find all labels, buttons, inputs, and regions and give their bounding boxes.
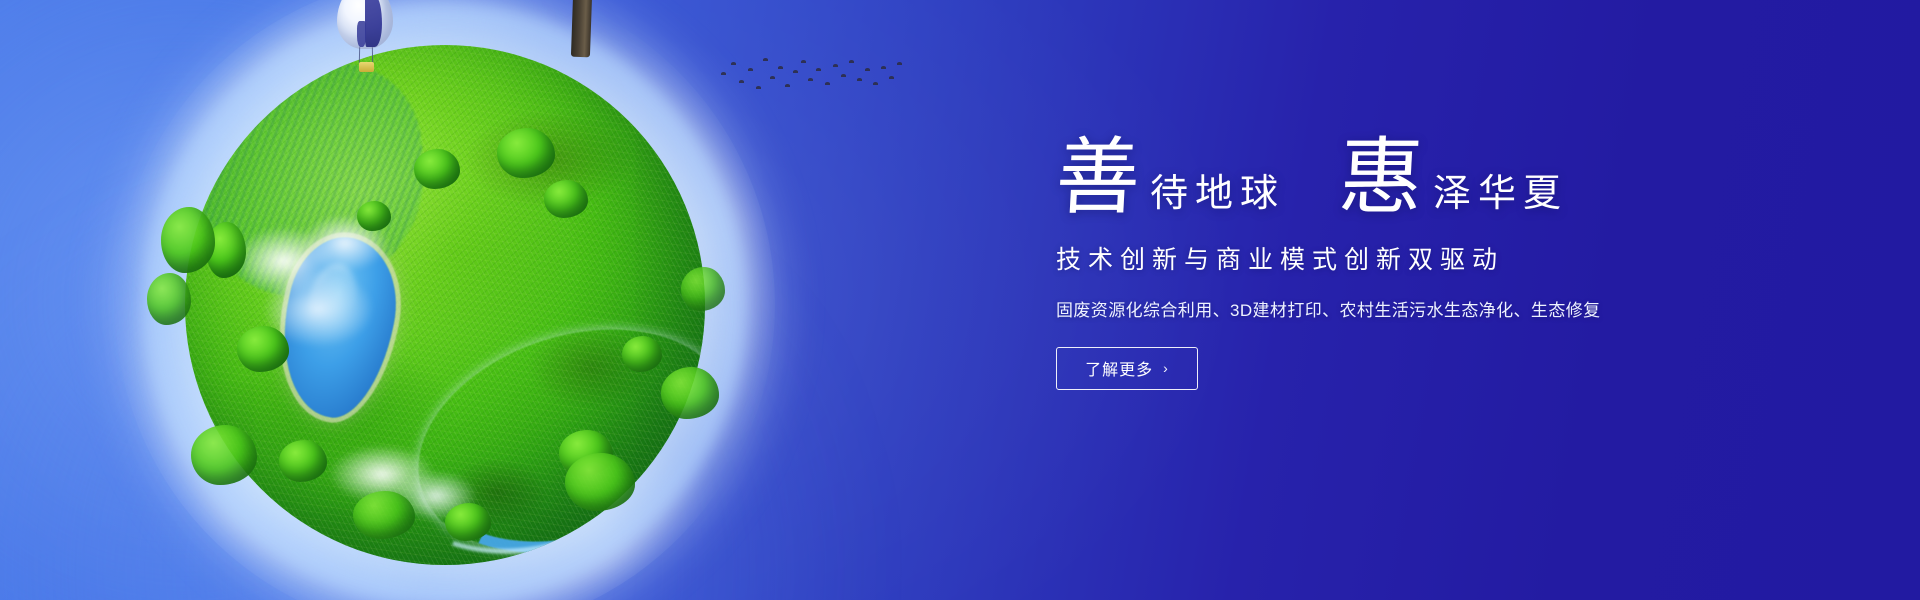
bird-flock-icon [715, 48, 905, 100]
headline-lead-char-2: 惠 [1337, 138, 1425, 218]
hero-banner: 善 待地球 惠 泽华夏 技术创新与商业模式创新双驱动 固废资源化综合利用、3D建… [0, 0, 1920, 600]
tree-canopy-icon [559, 430, 613, 476]
balloon-stripe [365, 0, 382, 47]
atmosphere-halo-icon [95, 0, 795, 600]
rim-tree-icon [147, 273, 191, 325]
rim-tree-icon [681, 267, 725, 311]
grass-texture [185, 45, 705, 565]
rim-tree-icon [191, 425, 257, 485]
rim-tree-icon [565, 453, 635, 511]
background-glow-left [0, 0, 640, 600]
planet-body-icon [185, 45, 705, 565]
learn-more-button[interactable]: 了解更多 › [1056, 347, 1198, 390]
tree-canopy-icon [357, 201, 391, 231]
tree-canopy-icon [279, 440, 327, 482]
background-glow-bottom [0, 220, 880, 600]
hot-air-balloon-icon [337, 0, 395, 78]
hero-copy: 善 待地球 惠 泽华夏 技术创新与商业模式创新双驱动 固废资源化综合利用、3D建… [1056, 138, 1756, 390]
rim-tree-icon [661, 367, 719, 419]
tree-canopy-icon [622, 336, 662, 372]
cloud-bank-icon [227, 201, 417, 351]
tree-canopy-icon [497, 128, 555, 178]
river-icon [389, 292, 705, 565]
large-tree-trunk-icon [571, 0, 594, 57]
balloon-stripe-secondary [357, 21, 366, 47]
cloud-bank-lower-icon [310, 419, 490, 539]
globe-illustration [95, 0, 795, 600]
lake-highlight [303, 259, 363, 339]
sky-ring-icon [145, 5, 745, 600]
rim-tree-icon [353, 491, 415, 539]
tree-canopy-icon [237, 326, 289, 372]
mountain-ridge-icon [185, 54, 437, 307]
lake-icon [266, 228, 409, 427]
tree-canopy-icon [414, 149, 460, 189]
headline-rest-2: 泽华夏 [1423, 174, 1568, 218]
balloon-ropes [359, 47, 373, 63]
balloon-envelope [337, 0, 393, 49]
headline: 善 待地球 惠 泽华夏 [1056, 138, 1756, 218]
rim-tree-icon [161, 207, 215, 273]
headline-group-2: 惠 泽华夏 [1339, 138, 1568, 218]
chevron-right-icon: › [1163, 361, 1169, 375]
headline-subtitle: 技术创新与商业模式创新双驱动 [1056, 240, 1756, 276]
tree-canopy-icon [206, 222, 246, 278]
balloon-basket [359, 62, 374, 72]
business-scope-description: 固废资源化综合利用、3D建材打印、农村生活污水生态净化、生态修复 [1056, 296, 1756, 321]
headline-group-1: 善 待地球 [1056, 138, 1285, 218]
tree-canopy-icon [544, 180, 588, 218]
headline-rest-1: 待地球 [1140, 174, 1285, 218]
tree-canopy-icon [445, 503, 491, 541]
headline-lead-char-1: 善 [1054, 138, 1142, 218]
learn-more-label: 了解更多 [1085, 356, 1153, 380]
river-highlight [371, 315, 705, 565]
